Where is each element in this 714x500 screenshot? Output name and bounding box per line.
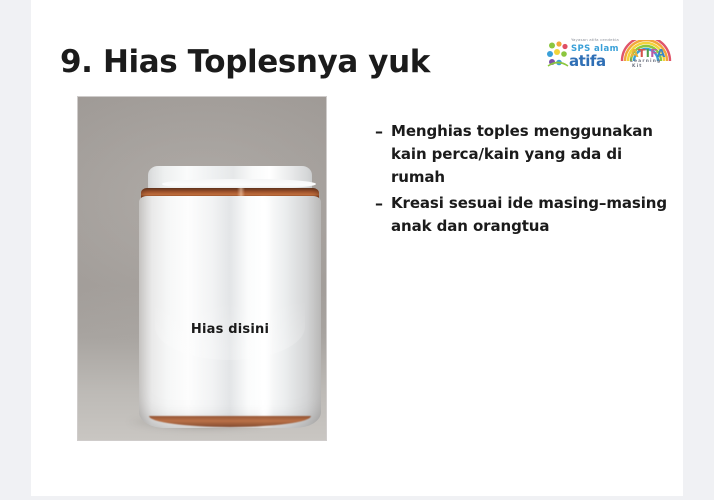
bullet-marker: – (375, 192, 391, 215)
logo-group: Yayasan atifa cendekia SPS alam atifa AT… (547, 32, 677, 76)
jar-photo: Hias disini (77, 96, 327, 441)
ceramic-jar: Hias disini (139, 150, 321, 428)
atifa-logo-line2: Kit (632, 64, 643, 69)
children-icon (547, 41, 569, 67)
bullet-marker: – (375, 120, 391, 143)
sps-logo-line2: atifa (569, 52, 606, 70)
slide-viewport: 9. Hias Toplesnya yuk Yayasan atifa cend… (0, 0, 714, 500)
bullet-text: Kreasi sesuai ide masing–masing anak dan… (391, 192, 670, 238)
bullet-list: – Menghias toples menggunakan kain perca… (375, 120, 670, 241)
slide-canvas: 9. Hias Toplesnya yuk Yayasan atifa cend… (31, 0, 683, 496)
jar-label-text: Hias disini (139, 322, 321, 337)
sps-alam-atifa-logo: Yayasan atifa cendekia SPS alam atifa (547, 34, 613, 74)
list-item: – Kreasi sesuai ide masing–masing anak d… (375, 192, 670, 238)
atifa-learning-kit-logo: ATIFA Learning Kit (618, 34, 674, 74)
sps-logo-tagline: Yayasan atifa cendekia (571, 38, 619, 43)
list-item: – Menghias toples menggunakan kain perca… (375, 120, 670, 189)
page-title: 9. Hias Toplesnya yuk (60, 44, 430, 80)
bullet-text: Menghias toples menggunakan kain perca/k… (391, 120, 670, 189)
